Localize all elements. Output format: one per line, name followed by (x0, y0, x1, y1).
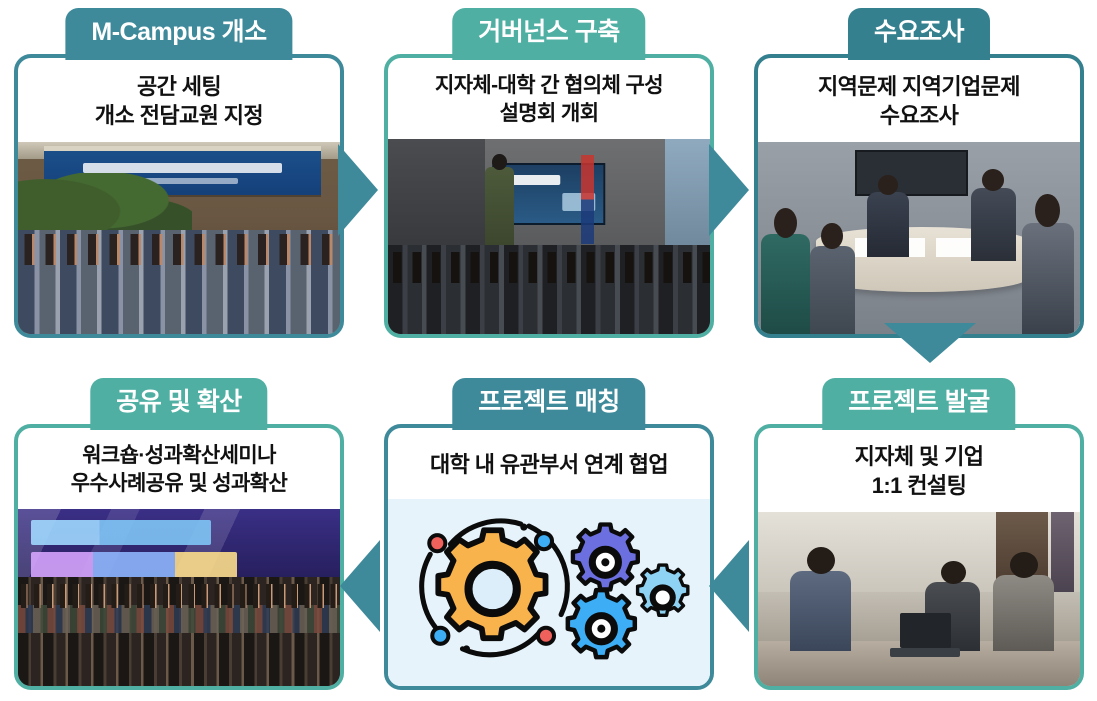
photo-seminar-briefing (388, 139, 710, 334)
step-1-header: M-Campus 개소 (65, 8, 292, 60)
step-4-media (758, 512, 1080, 686)
step-1-text-line-2: 개소 전담교원 지정 (28, 101, 330, 130)
step-4-header-label: 프로젝트 발굴 (848, 390, 989, 415)
step-1-body: 공간 세팅 개소 전담교원 지정 (14, 54, 344, 338)
step-4-text: 지자체 및 기업 1:1 컨설팅 (758, 428, 1080, 512)
step-card-3[interactable]: 수요조사 지역문제 지역기업문제 수요조사 (754, 8, 1084, 338)
step-5-body: 대학 내 유관부서 연계 협업 (384, 424, 714, 690)
step-3-text: 지역문제 지역기업문제 수요조사 (758, 58, 1080, 142)
step-1-text: 공간 세팅 개소 전담교원 지정 (18, 58, 340, 142)
arrow-step2-to-step3 (709, 144, 749, 236)
photo-consulting-desk (758, 512, 1080, 686)
step-2-text: 지자체-대학 간 협의체 구성 설명회 개회 (388, 58, 710, 139)
step-6-header: 공유 및 확산 (90, 378, 267, 430)
step-1-media (18, 142, 340, 334)
step-card-6[interactable]: 공유 및 확산 워크숍·성과확산세미나 우수사례공유 및 성과확산 (14, 378, 344, 690)
arrow-step5-to-step6 (340, 540, 380, 632)
step-2-body: 지자체-대학 간 협의체 구성 설명회 개회 (384, 54, 714, 338)
arrow-step4-to-step5 (709, 540, 749, 632)
photo-roundtable-meeting (758, 142, 1080, 334)
photo-group-photo-stage (18, 509, 340, 686)
step-3-body: 지역문제 지역기업문제 수요조사 (754, 54, 1084, 338)
step-4-header: 프로젝트 발굴 (822, 378, 1015, 430)
step-5-header-label: 프로젝트 매칭 (478, 390, 619, 415)
step-card-5[interactable]: 프로젝트 매칭 대학 내 유관부서 연계 협업 (384, 378, 714, 690)
step-2-header-label: 거버넌스 구축 (478, 20, 619, 45)
step-2-media (388, 139, 710, 334)
step-card-4[interactable]: 프로젝트 발굴 지자체 및 기업 1:1 컨설팅 (754, 378, 1084, 690)
step-3-text-line-1: 지역문제 지역기업문제 (768, 72, 1070, 101)
step-6-text-line-2: 우수사례공유 및 성과확산 (28, 470, 330, 498)
step-5-header: 프로젝트 매칭 (452, 378, 645, 430)
step-6-text-line-1: 워크숍·성과확산세미나 (28, 442, 330, 470)
gears-collaboration-icon (388, 499, 710, 686)
photo-opening-ceremony (18, 142, 340, 334)
step-card-1[interactable]: M-Campus 개소 공간 세팅 개소 전담교원 지정 (14, 8, 344, 338)
step-5-text: 대학 내 유관부서 연계 협업 (388, 428, 710, 499)
step-1-header-label: M-Campus 개소 (91, 20, 266, 45)
arrow-step1-to-step2 (338, 144, 378, 236)
step-2-text-line-2: 설명회 개회 (398, 100, 700, 128)
step-3-header-label: 수요조사 (874, 20, 964, 45)
step-card-2[interactable]: 거버넌스 구축 지자체-대학 간 협의체 구성 설명회 개회 (384, 8, 714, 338)
step-6-media (18, 509, 340, 686)
step-3-media (758, 142, 1080, 334)
step-5-media (388, 499, 710, 686)
step-4-body: 지자체 및 기업 1:1 컨설팅 (754, 424, 1084, 690)
step-2-text-line-1: 지자체-대학 간 협의체 구성 (398, 72, 700, 100)
step-6-body: 워크숍·성과확산세미나 우수사례공유 및 성과확산 (14, 424, 344, 690)
process-diagram: M-Campus 개소 공간 세팅 개소 전담교원 지정 거버넌스 구축 (0, 0, 1097, 701)
arrow-step3-to-step4 (884, 323, 976, 363)
step-3-text-line-2: 수요조사 (768, 101, 1070, 130)
step-2-header: 거버넌스 구축 (452, 8, 645, 60)
step-4-text-line-2: 1:1 컨설팅 (768, 471, 1070, 500)
step-5-text-line-1: 대학 내 유관부서 연계 협업 (398, 450, 700, 479)
step-1-text-line-1: 공간 세팅 (28, 72, 330, 101)
step-4-text-line-1: 지자체 및 기업 (768, 442, 1070, 471)
step-6-header-label: 공유 및 확산 (116, 390, 241, 415)
step-6-text: 워크숍·성과확산세미나 우수사례공유 및 성과확산 (18, 428, 340, 509)
step-3-header: 수요조사 (848, 8, 990, 60)
